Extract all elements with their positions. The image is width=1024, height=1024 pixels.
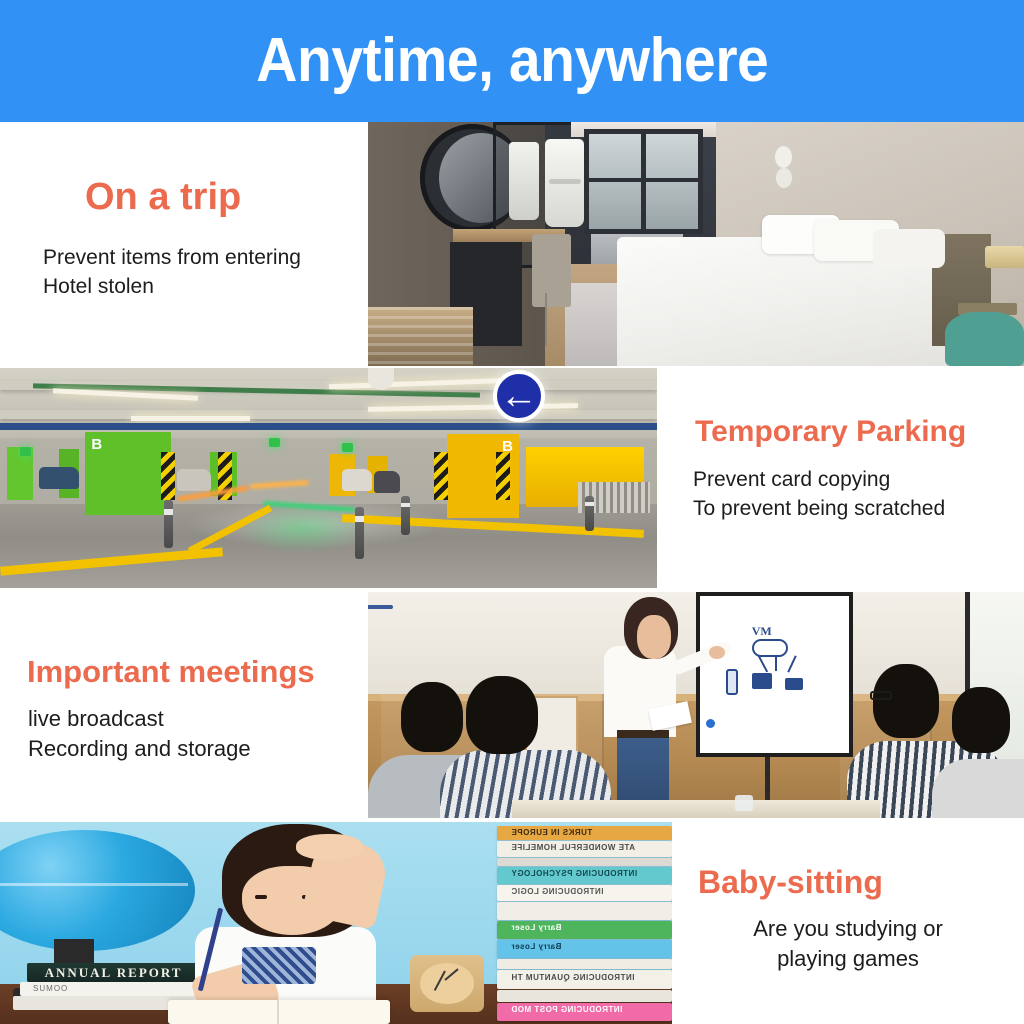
bollard bbox=[585, 496, 594, 531]
parked-car bbox=[39, 467, 79, 489]
stacked-book: Barry Loser bbox=[497, 940, 672, 958]
photo-meeting-room: VM bbox=[368, 592, 1024, 818]
book-title: SUMOO bbox=[33, 984, 68, 993]
wall-sconce bbox=[775, 146, 792, 168]
bench-slats bbox=[368, 307, 473, 366]
body-line: Prevent items from entering bbox=[43, 244, 301, 273]
wall-sconce bbox=[776, 168, 792, 188]
text-panel-temporary-parking: Temporary Parking Prevent card copying T… bbox=[657, 368, 1024, 588]
body-line: To prevent being scratched bbox=[693, 495, 945, 524]
section-heading-temporary-parking: Temporary Parking bbox=[695, 416, 966, 448]
photo-hotel-room bbox=[368, 122, 1024, 366]
book-title: ATE WONDERFUL HOMELIFE bbox=[511, 843, 635, 852]
window bbox=[584, 129, 702, 234]
book-title: Barry Loser bbox=[511, 923, 561, 932]
monitor-sketch-icon bbox=[752, 673, 772, 689]
body-line: playing games bbox=[672, 944, 1024, 974]
conference-table bbox=[512, 800, 879, 818]
stacked-book: INTRODUCING QUANTUM TH bbox=[497, 970, 672, 988]
bollard bbox=[164, 500, 173, 548]
book-title: Barry Loser bbox=[511, 942, 561, 951]
photo-child-studying: ANNUAL REPORT SUMOO bbox=[0, 822, 672, 1024]
text-panel-important-meetings: Important meetings live broadcast Record… bbox=[0, 592, 368, 818]
attendee-body bbox=[932, 759, 1024, 818]
stacked-book bbox=[497, 902, 672, 920]
mobile-sketch-icon bbox=[726, 669, 738, 695]
book-title: TURKS IN EUROPE bbox=[511, 828, 592, 837]
left-arrow-sign-icon bbox=[493, 370, 545, 422]
stacked-book: INTRODUCING PSYCHOLOGY bbox=[497, 867, 672, 883]
fluorescent-tube bbox=[131, 416, 249, 421]
section-body-important-meetings: live broadcast Recording and storage bbox=[28, 704, 251, 765]
green-indicator-light bbox=[269, 438, 280, 447]
body-line: Recording and storage bbox=[28, 734, 251, 764]
photo-parking-garage: B B bbox=[0, 368, 657, 588]
clock-face bbox=[420, 963, 474, 1003]
book-title: INTRODUCING QUANTUM TH bbox=[511, 973, 634, 982]
security-camera-icon bbox=[368, 368, 394, 390]
stacked-book bbox=[497, 959, 672, 969]
whiteboard-vm-label: VM bbox=[752, 624, 772, 639]
eyeglasses-icon bbox=[870, 691, 892, 700]
presenter-belt bbox=[617, 730, 669, 738]
parked-car bbox=[342, 469, 372, 491]
pillow bbox=[873, 229, 945, 268]
hazard-stripe bbox=[496, 452, 510, 500]
laptop-sketch-icon bbox=[785, 678, 803, 690]
body-line: Hotel stolen bbox=[43, 273, 301, 302]
girl-eye bbox=[255, 895, 267, 899]
book-title: INTRODUCING LOGIC bbox=[511, 887, 604, 896]
section-temporary-parking: B B bbox=[0, 368, 1024, 588]
section-important-meetings: Important meetings live broadcast Record… bbox=[0, 592, 1024, 818]
pillar-green-labeled: B bbox=[85, 432, 170, 516]
stacked-book bbox=[497, 990, 672, 1002]
sketch-arrow bbox=[775, 655, 777, 671]
text-panel-baby-sitting: Baby-sitting Are you studying or playing… bbox=[672, 822, 1024, 1024]
parked-car bbox=[177, 469, 211, 491]
presenter-face bbox=[637, 615, 671, 659]
body-line: Are you studying or bbox=[672, 914, 1024, 944]
bollard bbox=[401, 496, 410, 536]
open-notebook bbox=[168, 1000, 390, 1024]
stacked-book bbox=[497, 858, 672, 866]
green-indicator-light bbox=[342, 443, 353, 452]
light-trail bbox=[250, 480, 309, 489]
infographic-page: Anytime, anywhere On a trip Prevent item… bbox=[0, 0, 1024, 1024]
green-indicator-light bbox=[20, 447, 31, 456]
book-title: ANNUAL REPORT bbox=[45, 965, 183, 981]
body-line: live broadcast bbox=[28, 704, 251, 734]
attendee-head bbox=[952, 687, 1010, 753]
body-line: Prevent card copying bbox=[693, 466, 945, 495]
bathrobe-icon bbox=[545, 139, 584, 227]
page-title: Anytime, anywhere bbox=[256, 30, 768, 92]
bollard bbox=[355, 507, 364, 560]
hazard-stripe bbox=[434, 452, 448, 500]
meeting-room-illustration: VM bbox=[368, 592, 1024, 818]
globe-equator bbox=[0, 883, 188, 886]
ceiling-beam bbox=[0, 410, 657, 419]
stacked-book: INTRODUCING POST MOD bbox=[497, 1003, 672, 1021]
stacked-book: ATE WONDERFUL HOMELIFE bbox=[497, 841, 672, 857]
wooden-bench bbox=[368, 307, 473, 366]
bedside-lamp bbox=[985, 246, 1024, 268]
text-panel-on-a-trip: On a trip Prevent items from entering Ho… bbox=[0, 122, 368, 366]
book-title: INTRODUCING PSYCHOLOGY bbox=[511, 869, 637, 878]
hotel-room-illustration bbox=[368, 122, 1024, 366]
blue-pipe bbox=[0, 423, 657, 430]
cloud-sketch-icon bbox=[752, 639, 788, 657]
parking-garage-illustration: B B bbox=[0, 368, 657, 588]
attendee-head bbox=[401, 682, 463, 752]
section-body-temporary-parking: Prevent card copying To prevent being sc… bbox=[693, 466, 945, 524]
stacked-book: TURKS IN EUROPE bbox=[497, 826, 672, 840]
parked-car bbox=[374, 471, 400, 493]
attendee-head bbox=[873, 664, 939, 738]
girl-hand bbox=[296, 834, 363, 860]
girl-plaid-bow bbox=[242, 947, 316, 983]
stacked-book: Barry Loser bbox=[497, 921, 672, 939]
section-on-a-trip: On a trip Prevent items from entering Ho… bbox=[0, 122, 1024, 366]
section-body-on-a-trip: Prevent items from entering Hotel stolen bbox=[43, 244, 301, 302]
header-banner: Anytime, anywhere bbox=[0, 0, 1024, 122]
child-studying-illustration: ANNUAL REPORT SUMOO bbox=[0, 822, 672, 1024]
desk-chair bbox=[532, 234, 571, 307]
hazard-stripe bbox=[161, 452, 175, 500]
attendee-head bbox=[466, 676, 538, 754]
water-glass bbox=[735, 795, 753, 811]
whiteboard-magnet bbox=[706, 719, 715, 728]
book-title: INTRODUCING POST MOD bbox=[511, 1005, 622, 1014]
section-heading-on-a-trip: On a trip bbox=[85, 178, 241, 218]
book-stack: TURKS IN EUROPE ATE WONDERFUL HOMELIFE I… bbox=[497, 822, 672, 1024]
globe bbox=[0, 830, 195, 951]
chair-leg bbox=[545, 293, 547, 347]
pillar-label: B bbox=[91, 436, 102, 453]
section-baby-sitting: ANNUAL REPORT SUMOO bbox=[0, 822, 1024, 1024]
section-body-baby-sitting: Are you studying or playing games bbox=[672, 914, 1024, 975]
section-heading-baby-sitting: Baby-sitting bbox=[698, 866, 883, 900]
green-side-table bbox=[945, 312, 1024, 366]
bathrobe-icon bbox=[509, 142, 539, 220]
whiteboard bbox=[696, 592, 853, 757]
section-heading-important-meetings: Important meetings bbox=[27, 656, 315, 689]
stacked-book: INTRODUCING LOGIC bbox=[497, 885, 672, 901]
